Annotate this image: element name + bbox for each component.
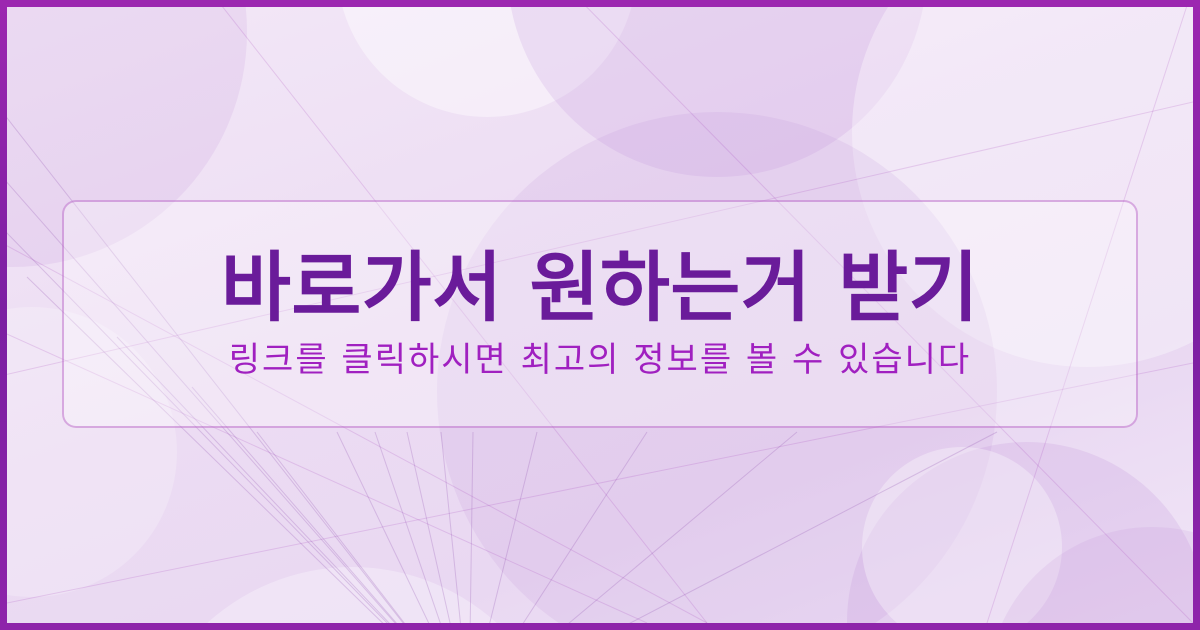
decor-circle-7 <box>862 447 1062 623</box>
banner-canvas: 바로가서 원하는거 받기 링크를 클릭하시면 최고의 정보를 볼 수 있습니다 <box>7 7 1193 623</box>
decor-circle-3 <box>507 7 927 177</box>
decor-circle-2 <box>337 7 637 117</box>
headline-card: 바로가서 원하는거 받기 링크를 클릭하시면 최고의 정보를 볼 수 있습니다 <box>62 200 1138 428</box>
decor-circle-6 <box>847 442 1193 623</box>
decor-circle-9 <box>987 527 1193 623</box>
page-subtitle: 링크를 클릭하시면 최고의 정보를 볼 수 있습니다 <box>229 339 971 382</box>
decor-circle-8 <box>137 567 567 623</box>
page-title: 바로가서 원하는거 받기 <box>221 247 979 329</box>
promo-banner: 바로가서 원하는거 받기 링크를 클릭하시면 최고의 정보를 볼 수 있습니다 <box>0 0 1200 630</box>
